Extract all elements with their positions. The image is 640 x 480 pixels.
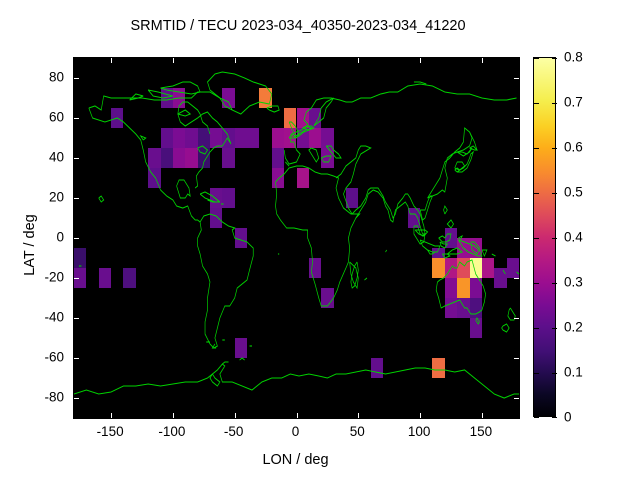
- colorbar-tickmark: [534, 193, 539, 194]
- colorbar-tick-label: 0.5: [564, 185, 583, 200]
- colorbar-tick-label: 0: [564, 410, 572, 425]
- x-tickmark: [420, 413, 421, 418]
- y-tickmark: [74, 158, 79, 159]
- colorbar-tickmark: [534, 283, 539, 284]
- x-tickmark: [482, 413, 483, 418]
- x-tickmark: [173, 58, 174, 63]
- y-tickmark: [74, 358, 79, 359]
- colorbar-tickmark: [552, 193, 557, 194]
- y-tickmark: [514, 358, 519, 359]
- axis-tickmark-layer: [74, 58, 519, 418]
- colorbar-tickmark: [534, 328, 539, 329]
- colorbar-tickmark: [552, 238, 557, 239]
- y-tick-label: 20: [18, 190, 64, 205]
- x-tickmark: [297, 413, 298, 418]
- colorbar[interactable]: [533, 57, 556, 417]
- x-tickmark: [111, 413, 112, 418]
- x-tick-label: 50: [350, 424, 365, 439]
- y-tickmark: [74, 198, 79, 199]
- x-tickmark: [235, 58, 236, 63]
- colorbar-tickmark: [552, 148, 557, 149]
- x-tick-label: 0: [292, 424, 300, 439]
- x-tickmark: [297, 58, 298, 63]
- y-tick-label: 80: [18, 70, 64, 85]
- colorbar-tickmark: [534, 238, 539, 239]
- colorbar-tick-label: 0.7: [564, 95, 583, 110]
- y-tickmark: [514, 398, 519, 399]
- colorbar-tick-label: 0.3: [564, 275, 583, 290]
- y-tickmark: [514, 78, 519, 79]
- colorbar-tickmark: [552, 328, 557, 329]
- x-tickmark: [111, 58, 112, 63]
- x-tick-label: -100: [158, 424, 185, 439]
- x-tickmark: [358, 413, 359, 418]
- colorbar-tickmark: [534, 417, 539, 418]
- colorbar-tickmark: [552, 373, 557, 374]
- y-tick-label: 0: [18, 230, 64, 245]
- chart-title: SRMTID / TECU 2023-034_40350-2023-034_41…: [0, 18, 596, 34]
- x-tickmark: [420, 58, 421, 63]
- colorbar-tickmark: [552, 103, 557, 104]
- colorbar-tickmark: [552, 58, 557, 59]
- y-tickmark: [514, 198, 519, 199]
- colorbar-tickmark: [552, 283, 557, 284]
- x-tickmark: [358, 58, 359, 63]
- colorbar-tickmark: [534, 58, 539, 59]
- colorbar-tick-label: 0.2: [564, 320, 583, 335]
- y-tickmark: [514, 238, 519, 239]
- colorbar-tick-label: 0.1: [564, 365, 583, 380]
- colorbar-tickmark: [552, 417, 557, 418]
- colorbar-tickmark: [534, 373, 539, 374]
- y-tickmark: [74, 118, 79, 119]
- x-tick-label: -150: [97, 424, 124, 439]
- x-axis-label: LON / deg: [73, 452, 518, 468]
- x-tick-label: -50: [224, 424, 244, 439]
- colorbar-tick-label: 0.8: [564, 50, 583, 65]
- y-tick-label: -20: [18, 270, 64, 285]
- y-tickmark: [74, 238, 79, 239]
- x-tick-label: 150: [470, 424, 493, 439]
- y-tickmark: [514, 158, 519, 159]
- colorbar-tickmark: [534, 103, 539, 104]
- y-tickmark: [514, 318, 519, 319]
- colorbar-tickmark: [534, 148, 539, 149]
- figure-canvas: SRMTID / TECU 2023-034_40350-2023-034_41…: [0, 0, 640, 480]
- x-tickmark: [173, 413, 174, 418]
- y-tick-label: -60: [18, 350, 64, 365]
- y-tickmark: [514, 278, 519, 279]
- x-tick-label: 100: [408, 424, 431, 439]
- y-tick-label: -40: [18, 310, 64, 325]
- y-tick-label: 60: [18, 110, 64, 125]
- y-tickmark: [514, 118, 519, 119]
- y-tickmark: [74, 318, 79, 319]
- x-tickmark: [235, 413, 236, 418]
- y-tick-label: -80: [18, 390, 64, 405]
- y-tickmark: [74, 398, 79, 399]
- map-plot-area[interactable]: [73, 57, 520, 419]
- colorbar-tick-label: 0.6: [564, 140, 583, 155]
- x-tickmark: [482, 58, 483, 63]
- colorbar-gradient: [534, 58, 555, 416]
- y-tick-label: 40: [18, 150, 64, 165]
- y-tickmark: [74, 278, 79, 279]
- colorbar-tick-label: 0.4: [564, 230, 583, 245]
- y-tickmark: [74, 78, 79, 79]
